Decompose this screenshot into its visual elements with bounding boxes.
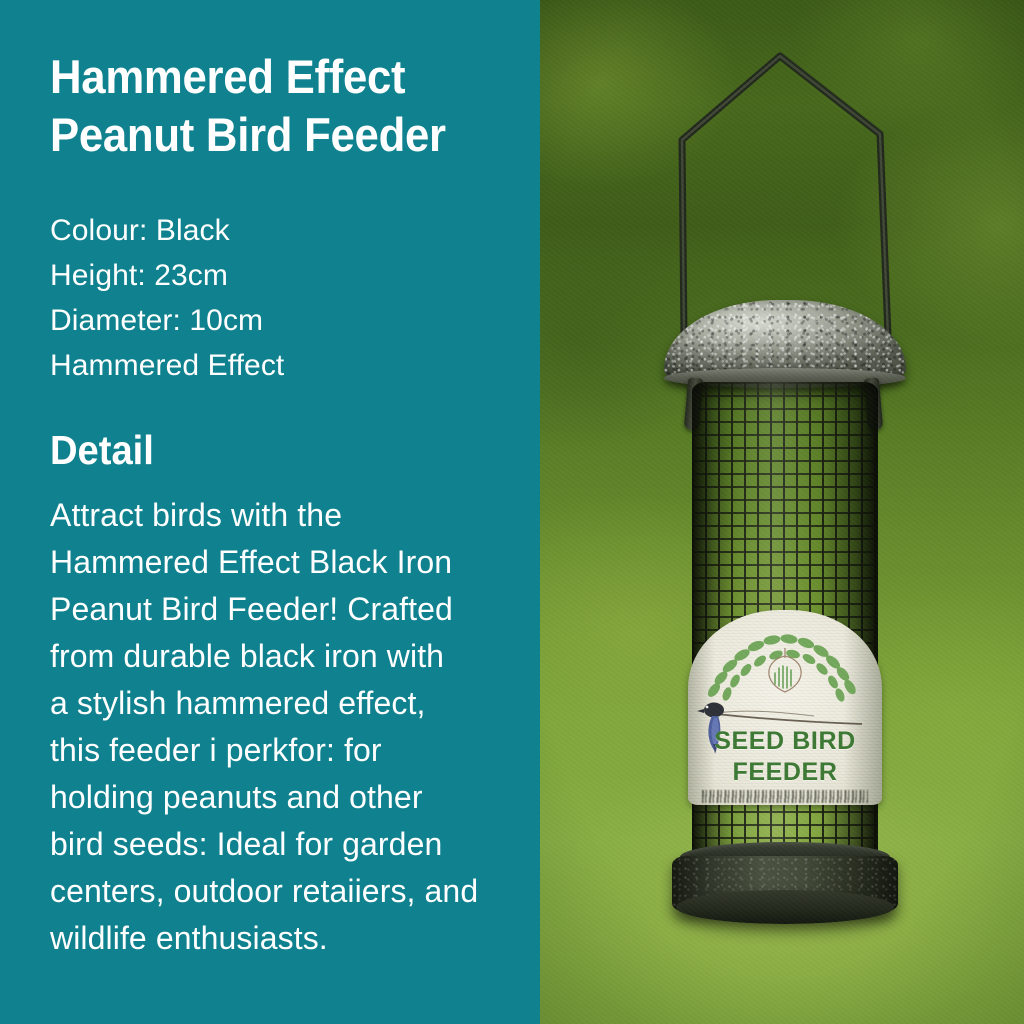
spec-height: Height: 23cm xyxy=(50,253,520,298)
hanger-wire-icon xyxy=(668,48,900,338)
detail-line: centers, outdoor retaiiers, and xyxy=(50,868,520,915)
product-photo: SEED BIRD FEEDER xyxy=(540,0,1024,1024)
spec-list: Colour: Black Height: 23cm Diameter: 10c… xyxy=(50,164,520,388)
bird-feeder: SEED BIRD FEEDER xyxy=(540,0,1024,1024)
label-title: SEED BIRD FEEDER xyxy=(688,726,882,788)
product-listing-image: Hammered Effect Peanut Bird Feeder Colou… xyxy=(0,0,1024,1024)
detail-line: bird seeds: Ideal for garden xyxy=(50,821,520,868)
detail-line: Peanut Bird Feeder! Crafted xyxy=(50,586,520,633)
product-title-line-2: Peanut Bird Feeder xyxy=(50,106,487,164)
detail-line: Attract birds with the xyxy=(50,492,520,539)
detail-line: a stylish hammered effect, xyxy=(50,680,520,727)
info-panel-content: Hammered Effect Peanut Bird Feeder Colou… xyxy=(50,0,520,962)
product-label: SEED BIRD FEEDER xyxy=(688,610,882,805)
detail-line: Hammered Effect Black Iron xyxy=(50,539,520,586)
label-subtext xyxy=(702,790,868,803)
detail-line: holding peanuts and other xyxy=(50,774,520,821)
info-panel: Hammered Effect Peanut Bird Feeder Colou… xyxy=(0,0,540,1024)
detail-line: wildlife enthusiasts. xyxy=(50,915,520,962)
label-title-line-2: FEEDER xyxy=(688,757,882,788)
detail-line: this feeder i perkfor: for xyxy=(50,727,520,774)
spec-finish: Hammered Effect xyxy=(50,343,520,388)
detail-body: Attract birds with the Hammered Effect B… xyxy=(50,474,520,962)
label-title-line-1: SEED BIRD xyxy=(688,726,882,757)
product-title-line-1: Hammered Effect xyxy=(50,48,487,106)
spec-colour: Colour: Black xyxy=(50,208,520,253)
detail-heading: Detail xyxy=(50,388,487,474)
product-title: Hammered Effect Peanut Bird Feeder xyxy=(50,0,487,164)
feeder-base-foot xyxy=(676,890,894,924)
spec-diameter: Diameter: 10cm xyxy=(50,298,520,343)
detail-line: from durable black iron with xyxy=(50,633,520,680)
